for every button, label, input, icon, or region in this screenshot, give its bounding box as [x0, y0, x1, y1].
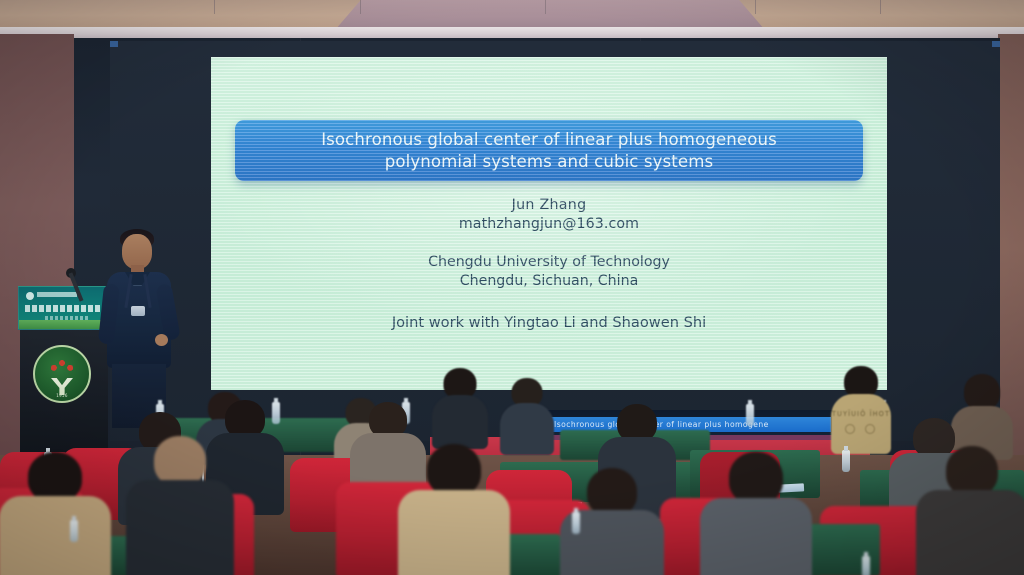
person-body [700, 498, 812, 575]
podium-sign-title-text [25, 305, 109, 312]
water-bottle [572, 512, 580, 534]
person-body [126, 480, 234, 575]
slide-author: Jun Zhang [211, 197, 887, 213]
audience-member [500, 378, 554, 452]
slide-title-bar: Isochronous global center of linear plus… [235, 120, 863, 181]
person-head [729, 452, 783, 504]
podium-sign-logo-icon [26, 292, 34, 300]
slide-title-line1: Isochronous global center of linear plus… [321, 129, 777, 151]
audience-member [0, 452, 110, 575]
slide-title: Isochronous global center of linear plus… [309, 129, 789, 172]
water-bottle [862, 556, 870, 575]
person-body: TUYÏUIÔ ÏHOT [831, 394, 891, 454]
person-head [964, 374, 1000, 410]
person-body [432, 395, 488, 449]
valance-seam [755, 0, 756, 14]
shirt-emblem-icon [845, 424, 855, 434]
audience-member [126, 436, 234, 575]
valance-seam [360, 0, 361, 14]
podium-sign-logo-text [37, 292, 77, 297]
slide-email: mathzhangjun@163.com [211, 216, 887, 232]
presenter-hand [155, 334, 168, 346]
audience-member [398, 444, 510, 575]
presenter-head [122, 234, 152, 269]
university-emblem-icon: 1956 [33, 345, 91, 403]
slide-affiliation-city: Chengdu, Sichuan, China [211, 273, 887, 289]
person-head [28, 452, 82, 502]
audience-member [432, 368, 488, 446]
slide-joint-work: Joint work with Yingtao Li and Shaowen S… [211, 314, 887, 331]
person-head [154, 436, 206, 486]
water-bottle [746, 404, 754, 426]
audience-member [916, 446, 1024, 575]
person-body [916, 490, 1024, 575]
presenter-badge [131, 306, 145, 316]
emblem-year: 1956 [56, 393, 67, 398]
water-bottle [70, 520, 78, 542]
presenter [98, 228, 180, 428]
person-body [0, 496, 111, 575]
person-head [587, 468, 637, 516]
person-head [946, 446, 998, 496]
conference-hall-photo: Isochronous global center of linear plus… [0, 0, 1024, 575]
slide-affiliation-university: Chengdu University of Technology [211, 254, 887, 270]
slide-body: Jun Zhang mathzhangjun@163.com Chengdu U… [211, 197, 887, 331]
audience-member: TUYÏUIÔ ÏHOT [832, 366, 890, 452]
ceiling-soffit-panel [335, 0, 765, 30]
shirt-emblem-icon [865, 424, 875, 434]
presentation-slide: Isochronous global center of linear plus… [211, 57, 887, 390]
person-body [398, 490, 510, 575]
water-bottle [842, 450, 850, 472]
shirt-print-text: TUYÏUIÔ ÏHOT [832, 410, 890, 418]
valance-seam [545, 0, 546, 14]
slide-title-line2: polynomial systems and cubic systems [321, 151, 777, 173]
audience-member [700, 452, 812, 575]
valance-seam [880, 0, 881, 14]
valance-seam [214, 0, 215, 14]
person-head [427, 444, 481, 496]
